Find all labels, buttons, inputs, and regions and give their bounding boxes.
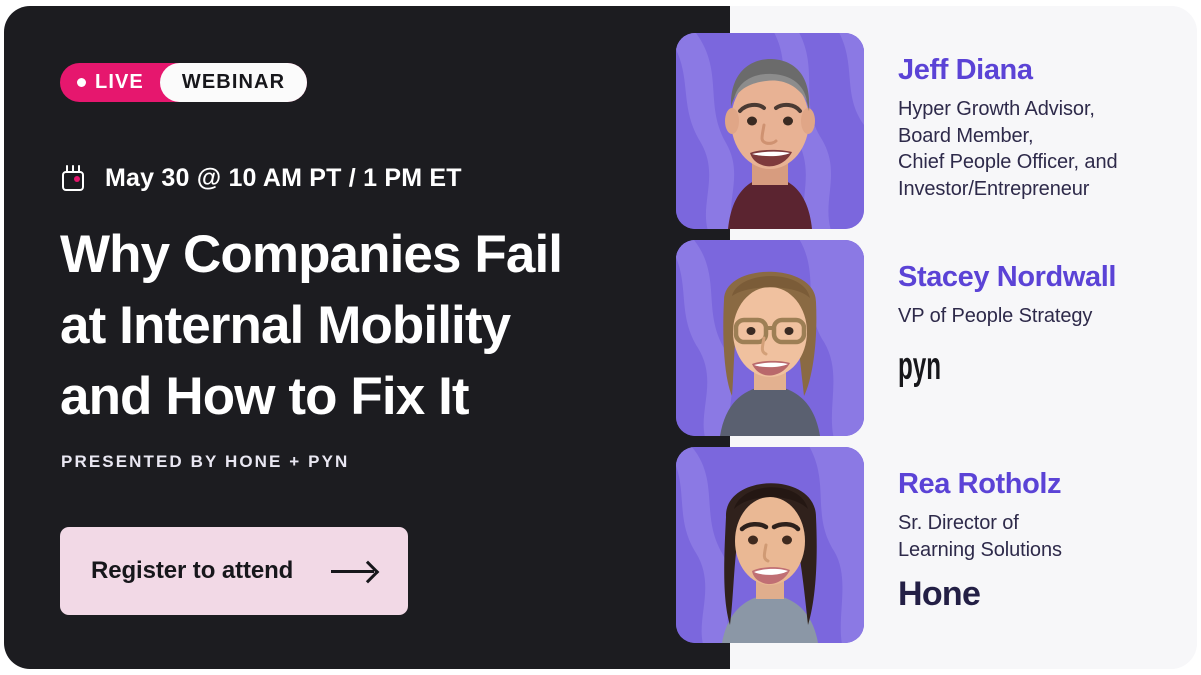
- speaker-title-line: Board Member,: [898, 123, 1118, 150]
- avatar: [676, 240, 864, 436]
- speaker-title-line: Chief People Officer, and: [898, 149, 1118, 176]
- speaker-title-line: Learning Solutions: [898, 537, 1062, 564]
- speaker-title: VP of People Strategy: [898, 303, 1116, 330]
- speaker-info: Jeff Diana Hyper Growth Advisor, Board M…: [898, 33, 1118, 229]
- speaker-card-stacey-nordwall: Stacey Nordwall VP of People Strategy py…: [676, 240, 1116, 436]
- speaker-title-line: Sr. Director of: [898, 510, 1062, 537]
- speaker-info: Rea Rotholz Sr. Director of Learning Sol…: [898, 447, 1062, 643]
- promo-card: LIVE WEBINAR May 30 @ 10 AM PT / 1 PM ET…: [4, 6, 1197, 669]
- speaker-name: Jeff Diana: [898, 54, 1118, 87]
- speaker-photo-rea-rotholz: [676, 447, 864, 643]
- speaker-title-line: VP of People Strategy: [898, 303, 1116, 330]
- speaker-name: Stacey Nordwall: [898, 261, 1116, 294]
- speaker-title: Sr. Director of Learning Solutions: [898, 510, 1062, 563]
- avatar: [676, 447, 864, 643]
- speaker-title-line: Hyper Growth Advisor,: [898, 96, 1118, 123]
- avatar: [676, 33, 864, 229]
- speaker-title-line: Investor/Entrepreneur: [898, 176, 1118, 203]
- speaker-name: Rea Rotholz: [898, 468, 1062, 501]
- speaker-card-rea-rotholz: Rea Rotholz Sr. Director of Learning Sol…: [676, 447, 1062, 643]
- hone-logo: Hone: [898, 577, 1062, 611]
- speaker-list: Jeff Diana Hyper Growth Advisor, Board M…: [4, 6, 1197, 669]
- speaker-title: Hyper Growth Advisor, Board Member, Chie…: [898, 96, 1118, 202]
- speaker-photo-jeff-diana: [676, 33, 864, 229]
- speaker-card-jeff-diana: Jeff Diana Hyper Growth Advisor, Board M…: [676, 33, 1118, 229]
- pyn-logo: pyn: [898, 348, 1033, 386]
- speaker-photo-stacey-nordwall: [676, 240, 864, 436]
- speaker-info: Stacey Nordwall VP of People Strategy py…: [898, 240, 1116, 436]
